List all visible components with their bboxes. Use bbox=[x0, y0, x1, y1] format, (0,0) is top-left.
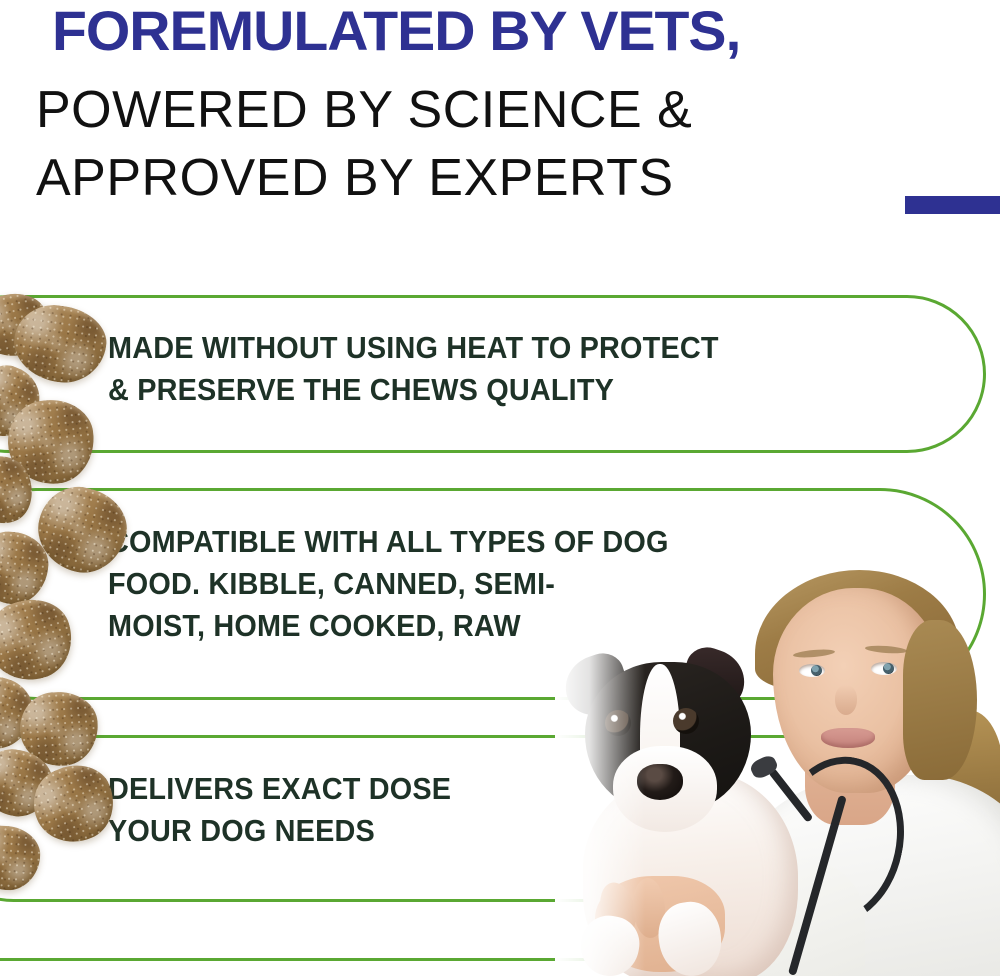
headline-block: FOREMULATED BY VETS, POWERED BY SCIENCE … bbox=[0, 0, 1000, 232]
blue-accent-dash bbox=[905, 196, 1000, 214]
dog-kibble-pieces bbox=[0, 280, 150, 976]
vet-nose bbox=[835, 685, 857, 715]
vet-pupil-right bbox=[883, 663, 894, 674]
veterinarian-holding-dog-photo bbox=[555, 560, 1000, 976]
vet-mouth bbox=[821, 728, 875, 748]
headline-line-primary: FOREMULATED BY VETS, bbox=[52, 0, 740, 63]
headline-line-secondary: POWERED BY SCIENCE & bbox=[36, 80, 692, 140]
vet-pupil-left bbox=[811, 665, 822, 676]
headline-line-tertiary: APPROVED BY EXPERTS bbox=[36, 148, 674, 208]
kibble-piece bbox=[0, 590, 81, 690]
infographic-canvas: FOREMULATED BY VETS, POWERED BY SCIENCE … bbox=[0, 0, 1000, 976]
dog-eye-right bbox=[673, 708, 699, 734]
benefit-text-no-heat: MADE WITHOUT USING HEAT TO PROTECT & PRE… bbox=[108, 327, 1000, 411]
vet-hair-side bbox=[903, 620, 977, 780]
kibble-piece bbox=[0, 824, 42, 893]
photo-left-fade bbox=[555, 560, 645, 976]
